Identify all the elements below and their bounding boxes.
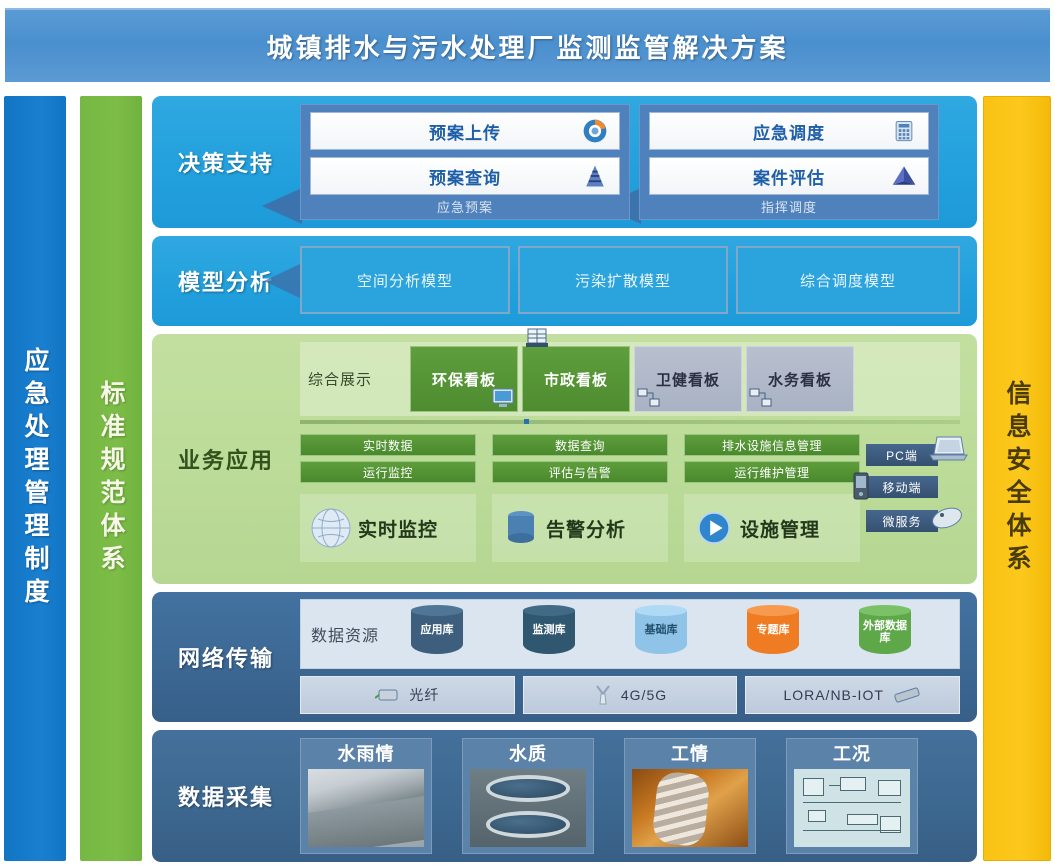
section-model-analysis: 模型分析 空间分析模型 污染扩散模型 综合调度模型 [152,236,977,326]
data-card-working-condition-photo [794,769,910,847]
business-pill-realtime-data[interactable]: 实时数据 [300,434,476,456]
business-divider [300,420,960,424]
data-card-working-condition-label: 工况 [787,739,917,767]
data-card-water-quality-label: 水质 [463,739,593,767]
data-card-hydrology[interactable]: 水雨情 [300,738,432,854]
phone-icon [852,471,870,501]
decision-button-emergency-dispatch[interactable]: 应急调度 [649,112,929,150]
page-title-band: 城镇排水与污水处理厂监测监管解决方案 [5,8,1050,82]
section-business-application: 业务应用 综合展示 环保看板 市政看板 卫健看板 [152,334,977,584]
decision-group-emergency-plan: 预案上传 预案查询 应急预案 [300,104,630,220]
database-application[interactable]: 应用库 [411,610,463,660]
fiber-cable-icon [375,686,401,704]
kanban-environment-label: 环保看板 [432,369,496,390]
business-pill-maintenance[interactable]: 运行维护管理 [684,461,860,483]
database-monitoring[interactable]: 监测库 [523,610,575,660]
pillar-information-security: 信息安全体系 [983,96,1051,861]
data-card-working-condition[interactable]: 工况 [786,738,918,854]
business-column-facility: 排水设施信息管理 运行维护管理 [684,434,860,488]
data-card-hydrology-photo [308,769,424,847]
kanban-water-label: 水务看板 [768,369,832,390]
antenna-icon [593,684,613,706]
business-pill-operation-monitoring[interactable]: 运行监控 [300,461,476,483]
database-external[interactable]: 外部数据库 [859,610,911,660]
network-link-fiber-label: 光纤 [409,685,439,705]
network-icon [637,387,661,409]
decision-button-case-assessment[interactable]: 案件评估 [649,157,929,195]
network-link-lora[interactable]: LORA/NB-IOT [745,676,960,714]
network-link-mobile-label: 4G/5G [621,687,667,703]
pillar-emergency-management: 应急处理管理制度 [4,96,66,861]
business-feature-alarm-analysis-label: 告警分析 [546,515,626,542]
business-column-query: 数据查询 评估与告警 [492,434,668,488]
section-network-transmission-label: 网络传输 [152,592,300,722]
data-card-engineering[interactable]: 工情 [624,738,756,854]
section-decision-support-label: 决策支持 [152,96,300,228]
pillar-standard-system-label: 标准规范体系 [93,380,129,578]
section-network-transmission: 网络传输 数据资源 应用库 监测库 基础库 [152,592,977,722]
model-box-pollution[interactable]: 污染扩散模型 [518,246,728,314]
network-link-fiber[interactable]: 光纤 [300,676,515,714]
decision-button-emergency-dispatch-label: 应急调度 [753,119,825,144]
model-box-pollution-label: 污染扩散模型 [575,270,671,291]
business-pill-data-query[interactable]: 数据查询 [492,434,668,456]
data-card-water-quality[interactable]: 水质 [462,738,594,854]
calculator-icon [890,117,918,145]
decision-button-case-assessment-label: 案件评估 [753,164,825,189]
model-box-spatial[interactable]: 空间分析模型 [300,246,510,314]
network-icon [749,387,773,409]
client-button-mobile[interactable]: 移动端 [866,476,938,498]
model-box-dispatch[interactable]: 综合调度模型 [736,246,960,314]
monitor-icon [491,387,515,409]
section-decision-support: 决策支持 预案上传 预案查询 [152,96,977,228]
mouse-icon [930,504,964,532]
upload-circle-icon [581,117,609,145]
business-divider-marker [524,419,529,424]
data-card-engineering-photo [632,769,748,847]
database-icon [502,507,540,549]
decision-group-command-dispatch-caption: 指挥调度 [640,197,938,216]
model-box-dispatch-label: 综合调度模型 [800,270,896,291]
section-data-collection: 数据采集 水雨情 水质 工情 工况 [152,730,977,862]
model-box-spatial-label: 空间分析模型 [357,270,453,291]
business-feature-facility-management[interactable]: 设施管理 [684,494,860,562]
pyramid-chart-icon [581,162,609,190]
business-feature-realtime-monitoring[interactable]: 实时监控 [300,494,476,562]
kanban-health-label: 卫健看板 [656,369,720,390]
kanban-environment[interactable]: 环保看板 [410,346,518,412]
main-content: 决策支持 预案上传 预案查询 [152,96,977,864]
pillar-emergency-management-label: 应急处理管理制度 [17,347,53,611]
comprehensive-display-bar: 综合展示 环保看板 市政看板 卫健看板 [300,342,960,416]
kanban-municipal-label: 市政看板 [544,369,608,390]
pillar-standard-system: 标准规范体系 [80,96,142,861]
decision-button-plan-query-label: 预案查询 [429,164,501,189]
client-button-microservice[interactable]: 微服务 [866,510,938,532]
decision-button-plan-upload-label: 预案上传 [429,119,501,144]
sensor-icon [892,685,922,705]
data-resource-label: 数据资源 [311,622,379,646]
kanban-water[interactable]: 水务看板 [746,346,854,412]
business-feature-realtime-monitoring-label: 实时监控 [358,515,438,542]
business-feature-alarm-analysis[interactable]: 告警分析 [492,494,668,562]
play-icon [694,507,734,549]
section-business-application-label: 业务应用 [152,334,300,584]
kanban-health[interactable]: 卫健看板 [634,346,742,412]
data-card-water-quality-photo [470,769,586,847]
page-title: 城镇排水与污水处理厂监测监管解决方案 [266,28,788,65]
decision-group-emergency-plan-caption: 应急预案 [301,197,629,216]
pyramid-3d-icon [890,162,918,190]
decision-button-plan-upload[interactable]: 预案上传 [310,112,620,150]
globe-icon [310,507,352,549]
network-links: 光纤 4G/5G LORA/NB-IOT [300,676,960,714]
data-card-engineering-label: 工情 [625,739,755,767]
network-link-mobile[interactable]: 4G/5G [523,676,738,714]
business-pill-drainage-info[interactable]: 排水设施信息管理 [684,434,860,456]
network-link-lora-label: LORA/NB-IOT [783,687,883,703]
comprehensive-display-label: 综合展示 [308,369,372,390]
laptop-icon [928,434,968,464]
building-icon [525,327,549,349]
pillar-information-security-label: 信息安全体系 [999,380,1035,578]
database-thematic[interactable]: 专题库 [747,610,799,660]
database-basic[interactable]: 基础库 [635,610,687,660]
section-model-analysis-label: 模型分析 [152,236,300,326]
decision-group-command-dispatch: 应急调度 案件评估 指挥调 [639,104,939,220]
data-resource-panel: 数据资源 应用库 监测库 基础库 [300,599,960,669]
section-data-collection-label: 数据采集 [152,730,300,862]
business-column-monitoring: 实时数据 运行监控 [300,434,476,488]
kanban-municipal[interactable]: 市政看板 [522,346,630,412]
data-card-hydrology-label: 水雨情 [301,739,431,767]
business-pill-assessment-alarm[interactable]: 评估与告警 [492,461,668,483]
decision-button-plan-query[interactable]: 预案查询 [310,157,620,195]
business-feature-facility-management-label: 设施管理 [740,515,820,542]
